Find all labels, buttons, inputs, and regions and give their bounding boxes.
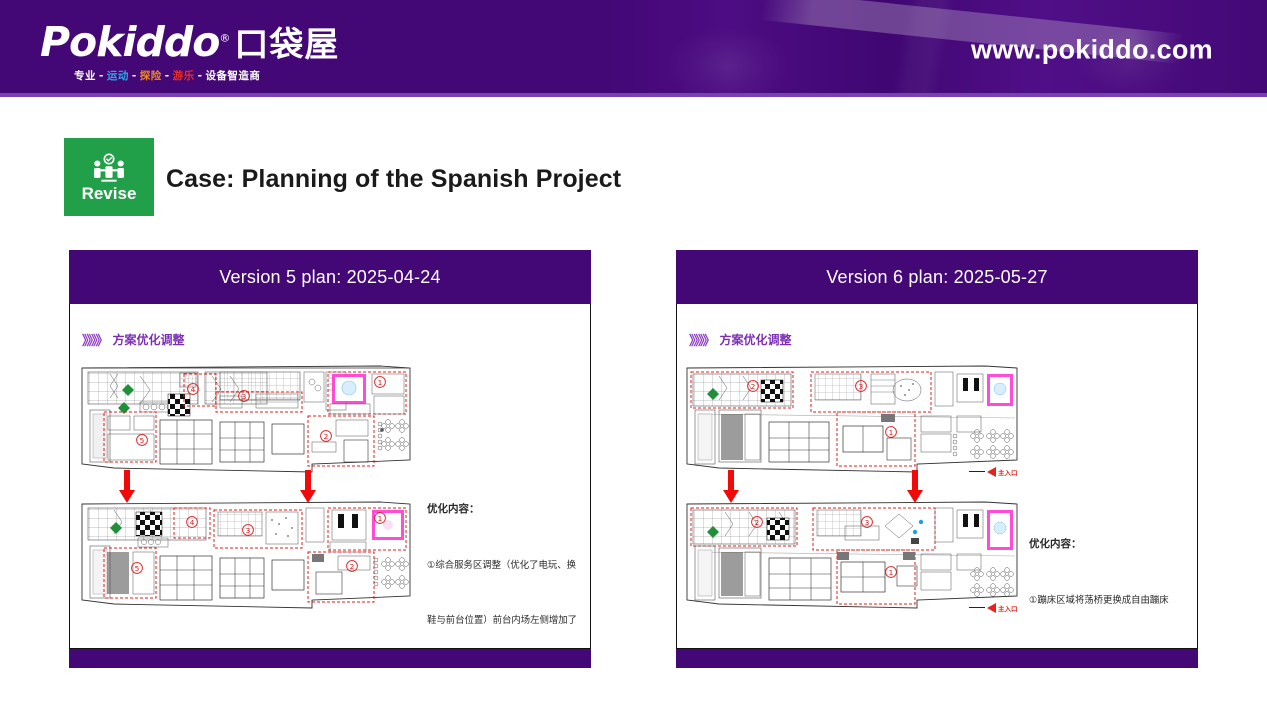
page-header: Pokiddo®口袋屋 专业-运动-探险-游乐-设备智造商 www.pokidd… <box>0 0 1267 97</box>
logo-tagline: 专业-运动-探险-游乐-设备智造商 <box>74 68 340 83</box>
site-url: www.pokiddo.com <box>971 35 1213 66</box>
entry-label-lower: 主入口 <box>998 603 1018 613</box>
svg-text:4: 4 <box>191 385 196 394</box>
version-5-slide-heading: 》》》》 方案优化调整 <box>82 330 185 349</box>
logo-latin-text: Pokiddo <box>40 18 219 66</box>
version-5-note-line-1: 鞋与前台位置）前台内场左侧增加了 <box>427 615 587 628</box>
svg-text:5: 5 <box>140 436 145 445</box>
transition-arrow-v6-left <box>723 470 739 504</box>
version-5-slide-heading-text: 方案优化调整 <box>113 331 185 348</box>
version-5-card-body: 》》》》 方案优化调整 <box>69 304 591 649</box>
transition-arrow-v5-left <box>119 470 135 504</box>
version-5-notes-title: 优化内容： <box>427 502 587 516</box>
tagline-sep-0: - <box>99 70 104 82</box>
transition-arrow-v6-right <box>907 470 923 504</box>
registered-mark-icon: ® <box>219 31 229 44</box>
svg-text:1: 1 <box>378 514 383 523</box>
version-6-card: Version 6 plan: 2025-05-27 》》》》 方案优化调整 2 <box>676 250 1198 668</box>
version-6-slide-heading-text: 方案优化调整 <box>720 331 792 348</box>
revise-badge: Revise <box>64 138 154 216</box>
version-6-notes-title: 优化内容： <box>1029 537 1197 551</box>
version-6-heading: Version 6 plan: 2025-05-27 <box>826 267 1047 288</box>
version-6-slide-heading: 》》》》 方案优化调整 <box>689 330 792 349</box>
svg-text:3: 3 <box>859 382 864 391</box>
entry-leader-line-lower <box>969 607 985 608</box>
version-6-notes: 优化内容： ①蹦床区域将荡桥更换成自由蹦床 ②将儿童保龄球更换成儿童闯关并且 与… <box>1029 494 1197 649</box>
version-5-floorplan-lower: 4 3 <box>80 500 420 612</box>
svg-text:2: 2 <box>324 432 329 441</box>
svg-text:1: 1 <box>889 428 894 437</box>
svg-text:3: 3 <box>246 526 251 535</box>
page-title: Case: Planning of the Spanish Project <box>166 165 621 194</box>
logo-chinese-text: 口袋屋 <box>234 25 339 65</box>
version-5-card-header: Version 5 plan: 2025-04-24 <box>69 250 591 304</box>
tagline-part-1: 运动 <box>107 70 129 82</box>
version-5-card-footer <box>69 649 591 668</box>
version-6-floorplan-upper: 2 3 <box>685 364 1025 476</box>
version-6-card-footer <box>676 649 1198 668</box>
tagline-sep-2: - <box>165 70 170 82</box>
tagline-part-2: 探险 <box>140 70 162 82</box>
chevron-right-icon: 》》》》 <box>689 330 714 349</box>
svg-text:1: 1 <box>889 568 894 577</box>
brand-logo: Pokiddo®口袋屋 专业-运动-探险-游乐-设备智造商 <box>40 22 340 90</box>
tagline-part-0: 专业 <box>74 70 96 82</box>
svg-text:3: 3 <box>865 518 870 527</box>
entry-marker-upper: 主入口 <box>987 467 1018 477</box>
svg-text:4: 4 <box>190 518 195 527</box>
tagline-part-3: 游乐 <box>173 70 195 82</box>
entry-marker-lower: 主入口 <box>987 603 1018 613</box>
tagline-sep-3: - <box>198 70 203 82</box>
svg-text:2: 2 <box>751 382 756 391</box>
svg-text:1: 1 <box>378 378 383 387</box>
entry-label-upper: 主入口 <box>998 467 1018 477</box>
chevron-right-icon: 》》》》 <box>82 330 107 349</box>
entry-arrow-icon <box>987 603 996 613</box>
svg-text:5: 5 <box>135 564 140 573</box>
version-5-floorplan-upper: 4 3 <box>80 364 420 476</box>
version-5-card: Version 5 plan: 2025-04-24 》》》》 方案优化调整 <box>69 250 591 668</box>
version-5-heading: Version 5 plan: 2025-04-24 <box>219 267 440 288</box>
svg-text:2: 2 <box>350 562 355 571</box>
logo-wordmark: Pokiddo®口袋屋 <box>40 22 340 63</box>
version-5-notes: 优化内容： ①综合服务区调整（优化了电玩、换 鞋与前台位置）前台内场左侧增加了 … <box>427 459 587 649</box>
svg-text:3: 3 <box>242 392 247 401</box>
entry-leader-line-upper <box>969 471 985 472</box>
header-accent-strip <box>0 93 1267 97</box>
tagline-sep-1: - <box>132 70 137 82</box>
badge-label: Revise <box>82 185 137 202</box>
version-6-card-body: 》》》》 方案优化调整 2 3 <box>676 304 1198 649</box>
svg-text:2: 2 <box>755 518 760 527</box>
people-group-icon <box>91 152 127 184</box>
version-5-note-line-0: ①综合服务区调整（优化了电玩、换 <box>427 560 587 573</box>
tagline-part-4: 设备智造商 <box>205 70 260 82</box>
version-6-card-header: Version 6 plan: 2025-05-27 <box>676 250 1198 304</box>
version-6-floorplan-lower: 2 3 <box>685 500 1025 612</box>
transition-arrow-v5-right <box>300 470 316 504</box>
version-6-note-line-0: ①蹦床区域将荡桥更换成自由蹦床 <box>1029 595 1197 608</box>
entry-arrow-icon <box>987 467 996 477</box>
